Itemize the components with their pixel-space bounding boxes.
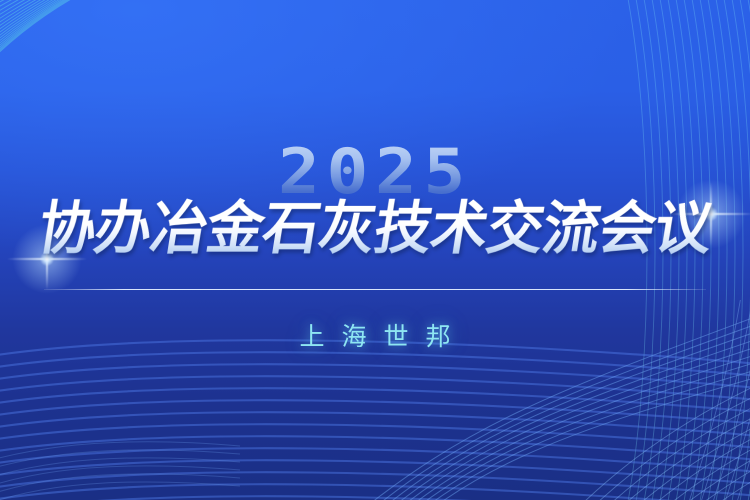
title-divider	[44, 289, 706, 290]
curved-lines-bottom-left-icon	[0, 370, 240, 500]
banner-subtitle: 上海世邦	[0, 320, 750, 354]
banner-title: 协办冶金石灰技术交流会议	[0, 196, 750, 262]
conference-banner: 2025 协办冶金石灰技术交流会议 上海世邦	[0, 0, 750, 500]
year-label: 2025	[0, 140, 750, 204]
